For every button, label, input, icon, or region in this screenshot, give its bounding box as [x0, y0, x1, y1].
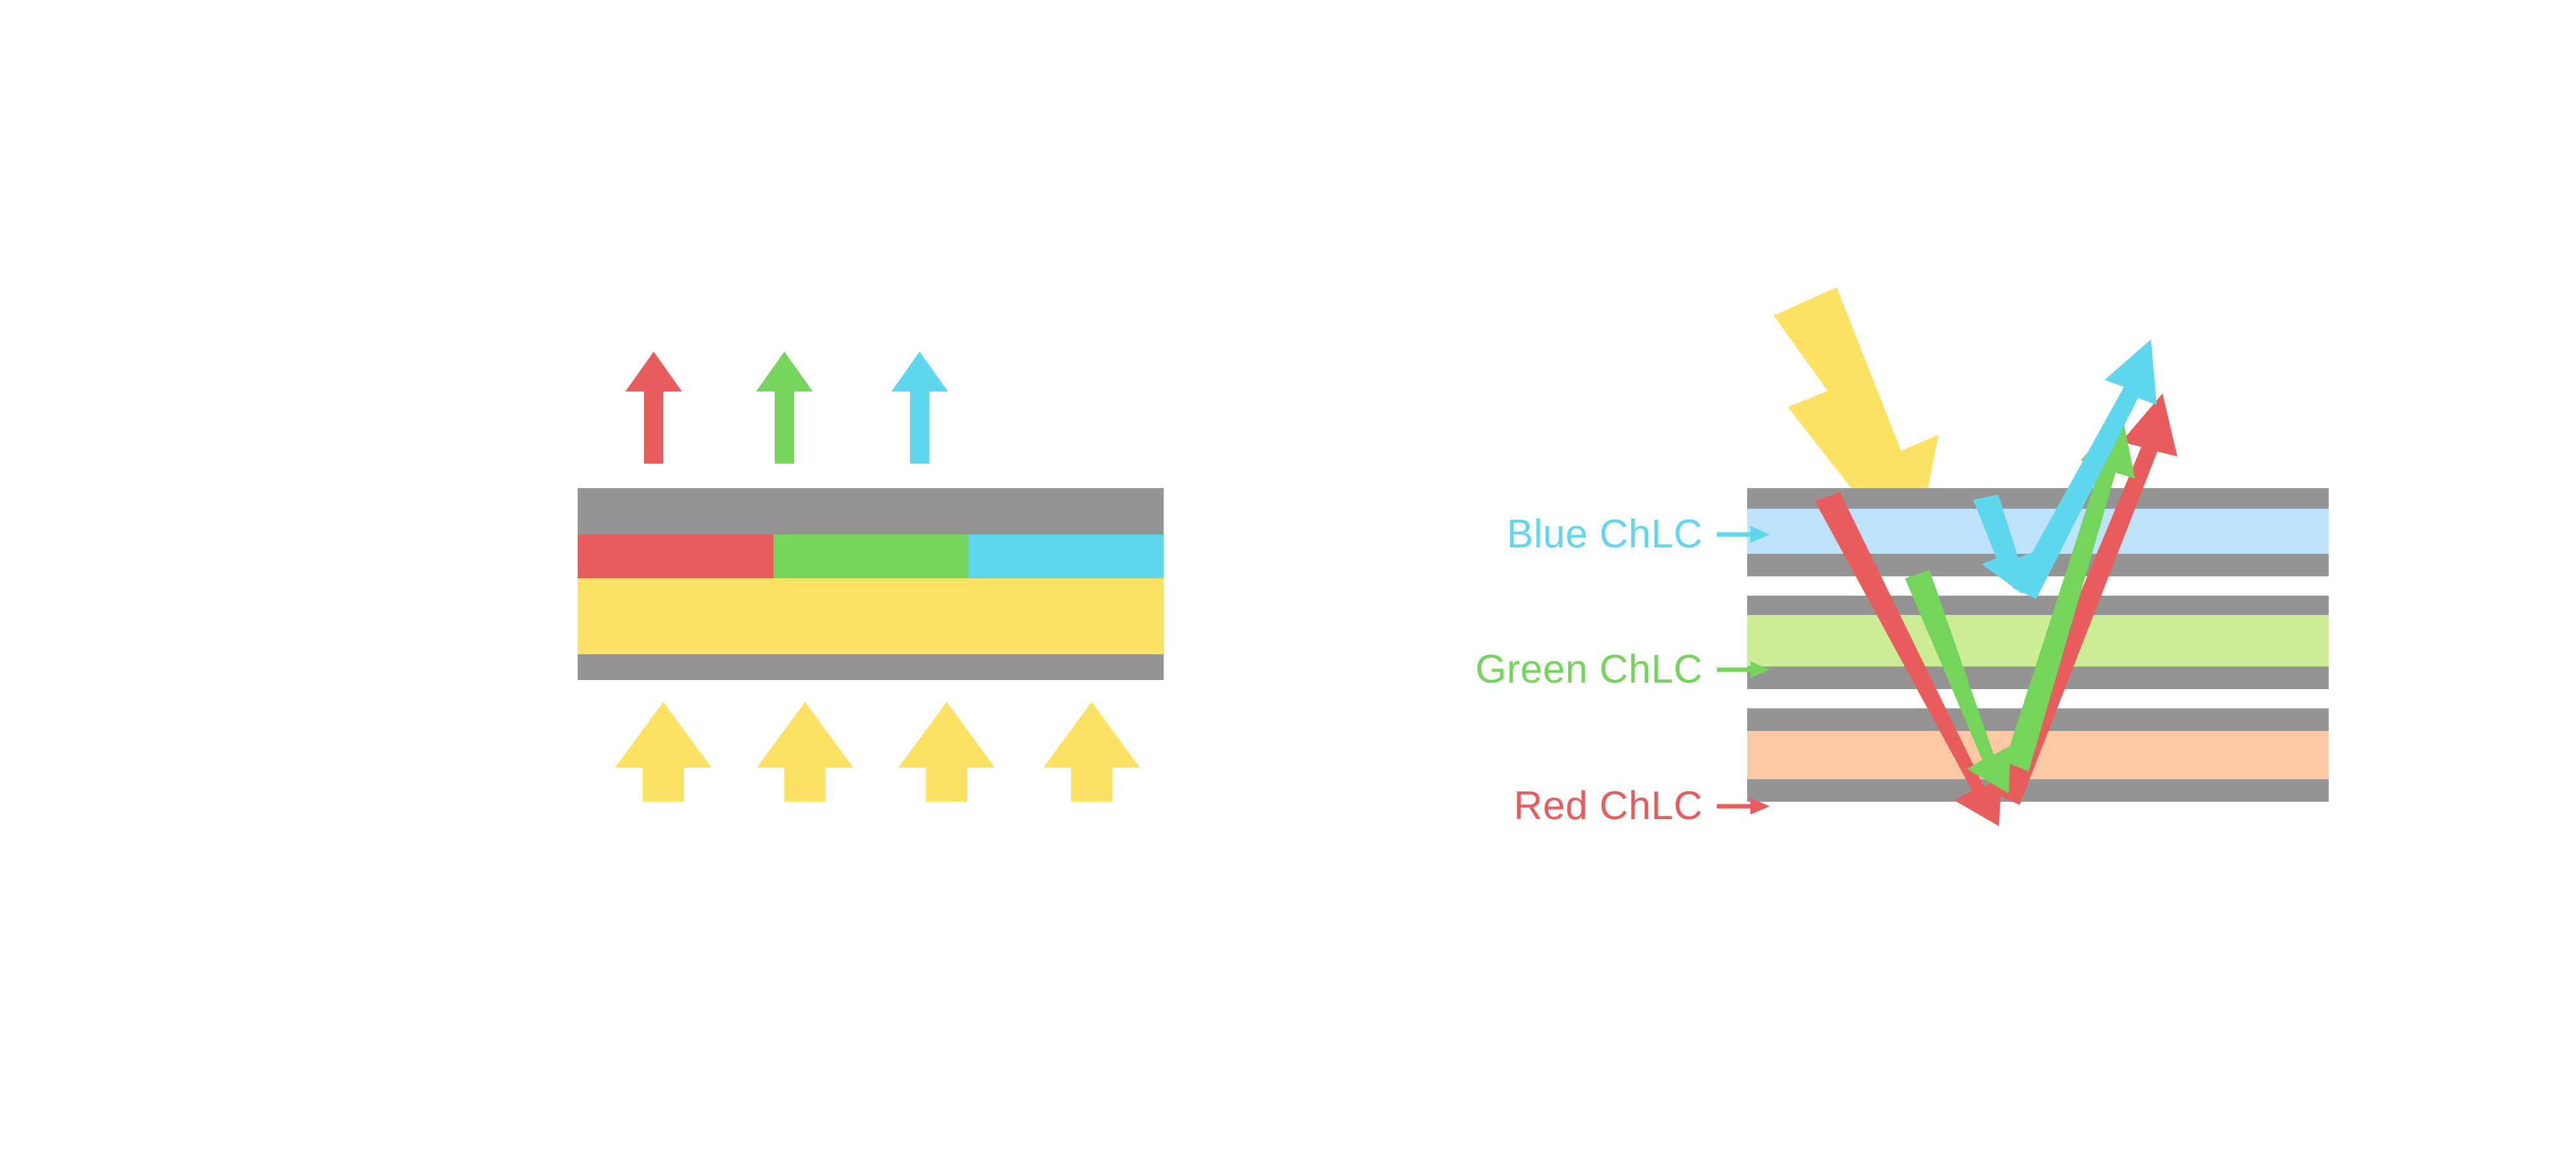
backlight-arrow-2	[757, 702, 853, 802]
left-panel	[578, 352, 1164, 802]
left-backlight-arrows	[615, 702, 1140, 802]
diagram-canvas: Blue ChLC Green ChLC Red ChLC	[0, 0, 2576, 1154]
backlight-arrow-3	[898, 702, 995, 802]
left-bottom-electrode	[578, 654, 1164, 680]
green-filter-segment	[773, 534, 969, 578]
red-filter-segment	[578, 534, 773, 578]
green-cell-top-electrode	[1747, 596, 2329, 615]
blue-chlc-label-text: Blue ChLC	[1507, 512, 1703, 556]
left-stack	[578, 488, 1164, 680]
left-emitted-arrows	[625, 352, 948, 464]
backlight-arrow-1	[615, 702, 712, 802]
red-cell-bottom-electrode	[1747, 779, 2329, 802]
right-panel: Blue ChLC Green ChLC Red ChLC	[1475, 287, 2329, 828]
right-panel-labels: Blue ChLC Green ChLC Red ChLC	[1475, 512, 1770, 828]
green-cell-lc-layer	[1747, 615, 2329, 667]
backlight-arrow-4	[1043, 702, 1140, 802]
left-backlight-layer	[578, 578, 1164, 654]
green-emission-arrow	[756, 352, 813, 464]
red-emission-arrow	[625, 352, 682, 464]
green-chlc-label-text: Green ChLC	[1475, 647, 1703, 692]
cyan-filter-segment	[969, 534, 1164, 578]
cyan-emission-arrow	[891, 352, 948, 464]
left-top-electrode	[578, 488, 1164, 534]
diagram-svg: Blue ChLC Green ChLC Red ChLC	[0, 0, 2576, 1154]
red-chlc-label-text: Red ChLC	[1514, 784, 1703, 828]
